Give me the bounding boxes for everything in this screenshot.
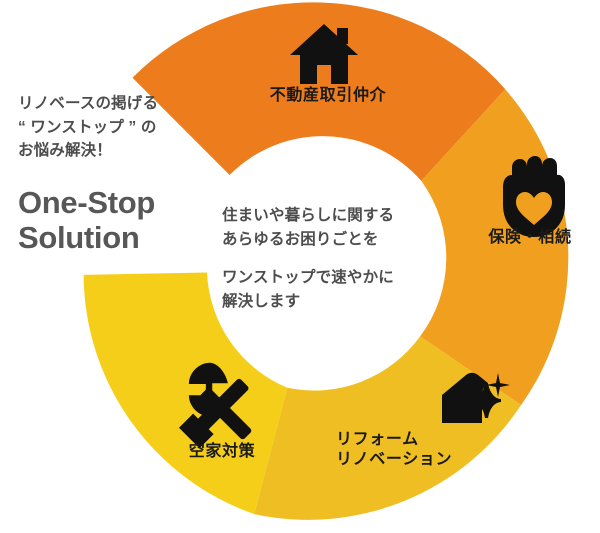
lead-text: リノベースの掲げる “ ワンストップ ” の お悩み解決！ [18,92,223,163]
center-text-line2: ワンストップで速やかに 解決します [222,266,437,314]
hand-heart-icon [503,156,565,237]
page-title: One-Stop Solution [18,185,223,256]
one-stop-solution-graphic: リノベースの掲げる “ ワンストップ ” の お悩み解決！ One-Stop S… [0,0,600,533]
segment-label-real-estate: 不動産取引仲介 [243,86,413,106]
segment-label-insurance-inheritance: 保険・相続 [470,228,590,248]
segment-label-reform-renovation: リフォーム リノベーション [336,430,496,470]
center-text-line1: 住まいや暮らしに関する あらゆるお困りごとを [222,204,437,252]
left-title-block: リノベースの掲げる “ ワンストップ ” の お悩み解決！ One-Stop S… [18,92,223,256]
center-description: 住まいや暮らしに関する あらゆるお困りごとを ワンストップで速やかに 解決します [222,204,437,314]
segment-label-vacant-house: 空家対策 [162,442,282,462]
